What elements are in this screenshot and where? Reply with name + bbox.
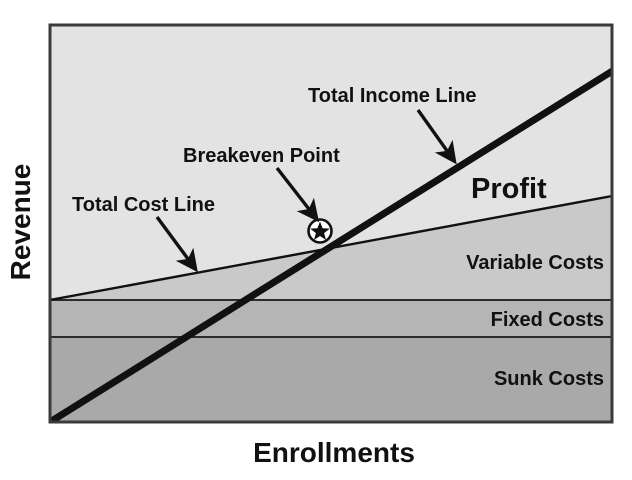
total-income-line-label: Total Income Line <box>308 85 477 107</box>
total-cost-line-label: Total Cost Line <box>72 194 215 216</box>
y-axis-label: Revenue <box>5 164 36 281</box>
region-label-profit: Profit <box>471 173 547 205</box>
breakeven-chart-svg: Total Income Line Breakeven Point Total … <box>0 0 632 480</box>
x-axis-label: Enrollments <box>253 437 415 468</box>
region-label-sunk-costs: Sunk Costs <box>494 368 604 390</box>
region-label-fixed-costs: Fixed Costs <box>491 309 604 331</box>
region-label-variable-costs: Variable Costs <box>466 252 604 274</box>
breakeven-chart-figure: Total Income Line Breakeven Point Total … <box>0 0 632 480</box>
breakeven-point-label: Breakeven Point <box>183 145 340 167</box>
breakeven-point-marker <box>309 220 332 243</box>
